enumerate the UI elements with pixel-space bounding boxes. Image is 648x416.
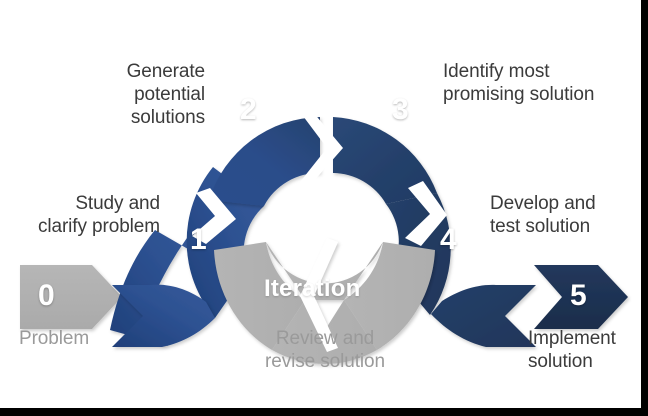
step-5-caption: Implement solution [528, 327, 648, 373]
diagram-canvas: Generate potential solutions Study and c… [0, 0, 648, 416]
iteration-label: Iteration [264, 277, 360, 301]
right-border [641, 0, 648, 416]
step-1-caption: Study and clarify problem [24, 192, 160, 238]
bottom-border [0, 408, 648, 416]
step-0-number: 0 [38, 281, 55, 311]
step-3-number: 3 [392, 95, 409, 125]
iteration-caption: Review and revise solution [245, 327, 405, 373]
step-0-caption: Problem [19, 327, 139, 350]
step-4-lower-tail[interactable] [431, 285, 536, 347]
step-2-caption: Generate potential solutions [60, 60, 205, 129]
step-1-number: 1 [190, 225, 207, 255]
step-0-shape[interactable] [20, 265, 122, 329]
step-4-number: 4 [440, 225, 457, 255]
step-2-number: 2 [240, 95, 257, 125]
step-5-number: 5 [570, 281, 587, 311]
step-3-caption: Identify most promising solution [443, 60, 623, 106]
step-4-caption: Develop and test solution [490, 192, 640, 238]
